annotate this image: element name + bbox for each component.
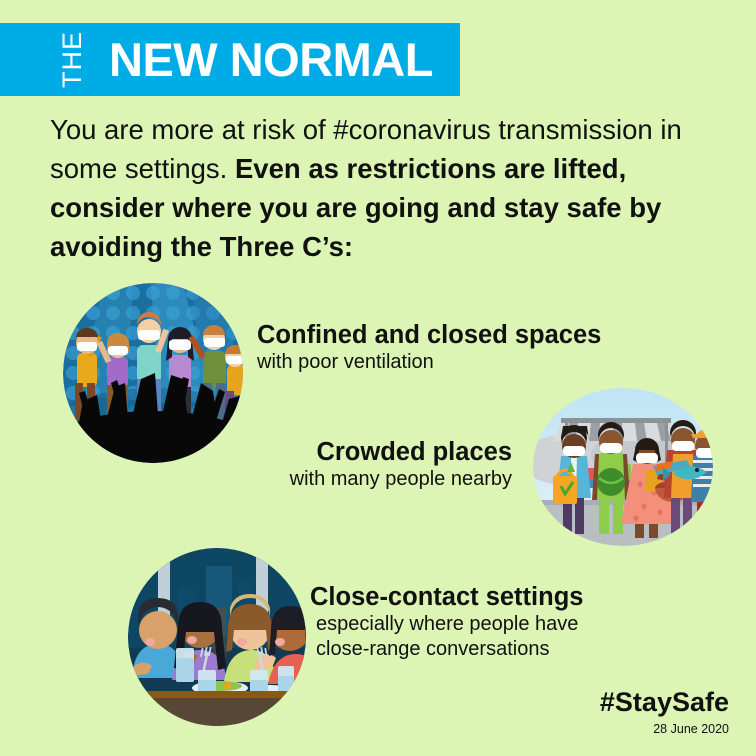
restaurant-dining-illustration bbox=[128, 548, 306, 727]
outdoor-market-illustration bbox=[533, 388, 713, 546]
nightclub-crowd-illustration bbox=[63, 283, 243, 463]
page-title: NEW NORMAL bbox=[109, 36, 433, 83]
caption-close-contact: Close-contact settings especially where … bbox=[310, 582, 583, 662]
caption-crowded-subtitle: with many people nearby bbox=[152, 467, 512, 492]
caption-crowded-title: Crowded places bbox=[152, 437, 512, 467]
caption-close-contact-subtitle-line2: close-range conversations bbox=[310, 637, 583, 662]
caption-close-contact-subtitle-line1: especially where people have bbox=[310, 612, 583, 637]
header-banner: THE NEW NORMAL bbox=[0, 23, 460, 96]
intro-paragraph: You are more at risk of #coronavirus tra… bbox=[50, 110, 720, 266]
caption-close-contact-title: Close-contact settings bbox=[310, 582, 583, 612]
hashtag-staysafe: #StaySafe bbox=[600, 688, 729, 718]
date-stamp: 28 June 2020 bbox=[600, 723, 729, 737]
footer: #StaySafe 28 June 2020 bbox=[600, 688, 729, 736]
caption-confined-title: Confined and closed spaces bbox=[257, 320, 601, 350]
caption-confined: Confined and closed spaces with poor ven… bbox=[257, 320, 601, 375]
caption-confined-subtitle: with poor ventilation bbox=[257, 350, 601, 375]
poster-canvas: THE NEW NORMAL You are more at risk of #… bbox=[0, 0, 756, 756]
header-eyebrow: THE bbox=[59, 31, 86, 88]
caption-crowded: Crowded places with many people nearby bbox=[152, 437, 512, 492]
